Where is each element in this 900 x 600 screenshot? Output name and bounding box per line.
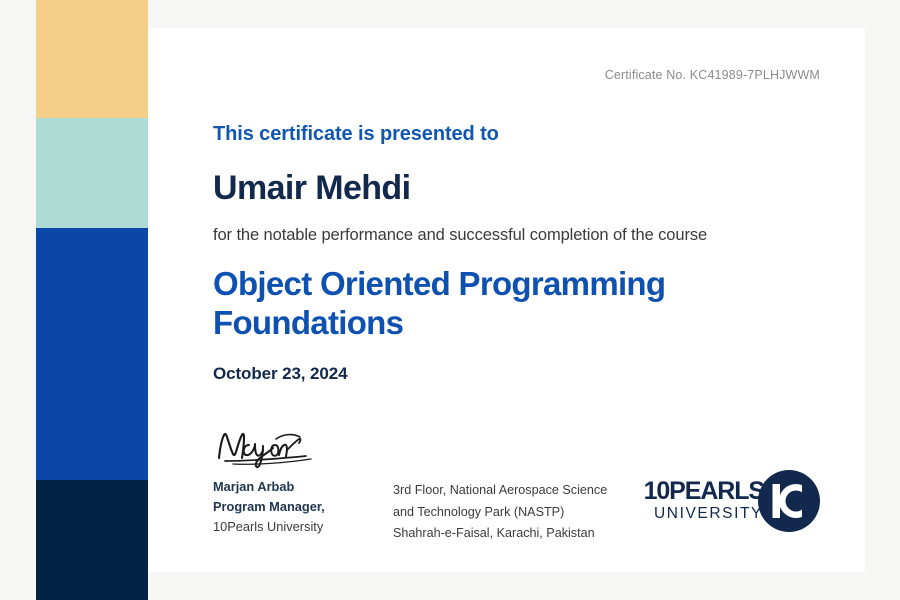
color-block-sand: [36, 0, 148, 118]
certificate-number: Certificate No. KC41989-7PLHJWWM: [605, 68, 820, 82]
certificate-card: Certificate No. KC41989-7PLHJWWM This ce…: [148, 28, 865, 572]
course-intro-text: for the notable performance and successf…: [213, 225, 825, 246]
logo-wordmark-main: 10PEARLS: [644, 479, 764, 504]
color-block-blue: [36, 228, 148, 480]
organization-logo: 10PEARLS UNIVERSITY: [644, 470, 820, 532]
certificate-footer: Marjan Arbab Program Manager, 10Pearls U…: [213, 428, 825, 558]
signer-organization: 10Pearls University: [213, 517, 373, 537]
award-date: October 23, 2024: [213, 364, 825, 384]
handwritten-signature-icon: [213, 428, 328, 470]
ten-pearls-circle-mark-icon: [758, 470, 820, 532]
signer-name: Marjan Arbab: [213, 477, 373, 497]
logo-wordmark-sub: UNIVERSITY: [654, 504, 763, 523]
presented-to-heading: This certificate is presented to: [213, 123, 825, 145]
color-block-navy: [36, 480, 148, 600]
address-line-3: Shahrah-e-Faisal, Karachi, Pakistan: [393, 523, 663, 545]
decorative-color-bar: [36, 0, 148, 600]
color-block-mint: [36, 118, 148, 228]
signer-role: Program Manager,: [213, 497, 373, 517]
address-line-1: 3rd Floor, National Aerospace Science: [393, 480, 663, 502]
certificate-body: This certificate is presented to Umair M…: [213, 123, 825, 384]
address-line-2: and Technology Park (NASTP): [393, 502, 663, 524]
course-title: Object Oriented Programming Foundations: [213, 265, 783, 342]
logo-wordmark: 10PEARLS UNIVERSITY: [644, 479, 764, 523]
recipient-name: Umair Mehdi: [213, 171, 825, 207]
certificate-page: Certificate No. KC41989-7PLHJWWM This ce…: [0, 0, 900, 600]
address-block: 3rd Floor, National Aerospace Science an…: [393, 480, 663, 545]
signature-block: Marjan Arbab Program Manager, 10Pearls U…: [213, 428, 373, 536]
